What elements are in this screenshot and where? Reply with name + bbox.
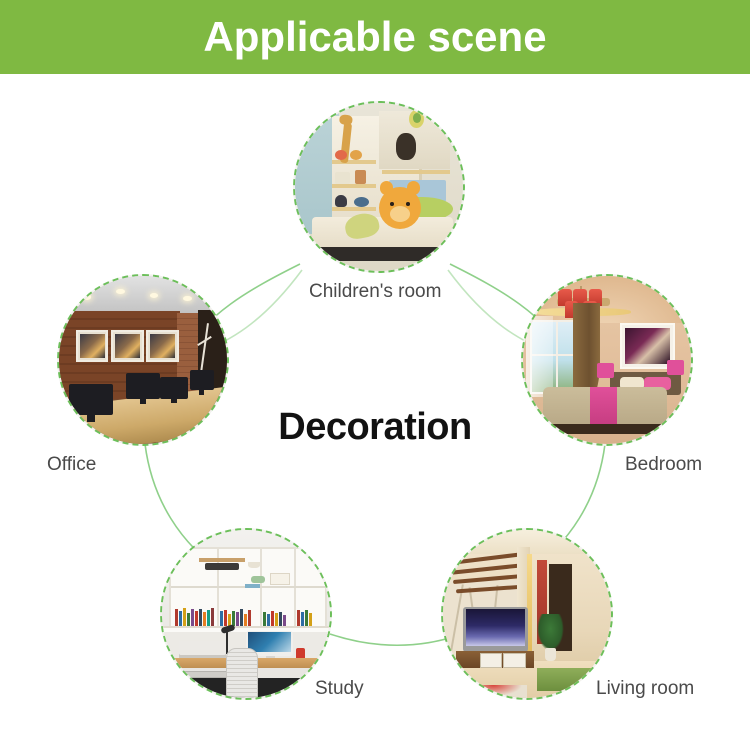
scene-caption-bedroom: Bedroom — [625, 454, 702, 476]
scene-caption-office: Office — [47, 454, 96, 476]
scene-node-living-room[interactable]: Living room — [441, 528, 613, 700]
scene-node-children-room[interactable]: Children's room — [293, 101, 465, 273]
children-room-photo — [295, 103, 463, 271]
scene-caption-study: Study — [315, 678, 364, 700]
bedroom-circle[interactable] — [521, 274, 693, 446]
scene-node-office[interactable]: Office — [57, 274, 229, 446]
study-room-photo — [162, 530, 330, 698]
applicable-scene-diagram: Decoration — [0, 74, 750, 750]
study-circle[interactable] — [160, 528, 332, 700]
header-banner: Applicable scene — [0, 0, 750, 74]
bedroom-photo — [523, 276, 691, 444]
children-room-circle[interactable] — [293, 101, 465, 273]
page-title: Applicable scene — [203, 16, 546, 58]
scene-caption-children-room: Children's room — [309, 281, 441, 303]
scene-node-bedroom[interactable]: Bedroom — [521, 274, 693, 446]
living-room-circle[interactable] — [441, 528, 613, 700]
living-room-photo — [443, 530, 611, 698]
office-circle[interactable] — [57, 274, 229, 446]
scene-caption-living-room: Living room — [596, 678, 694, 700]
office-photo — [59, 276, 227, 444]
scene-node-study[interactable]: Study — [160, 528, 332, 700]
